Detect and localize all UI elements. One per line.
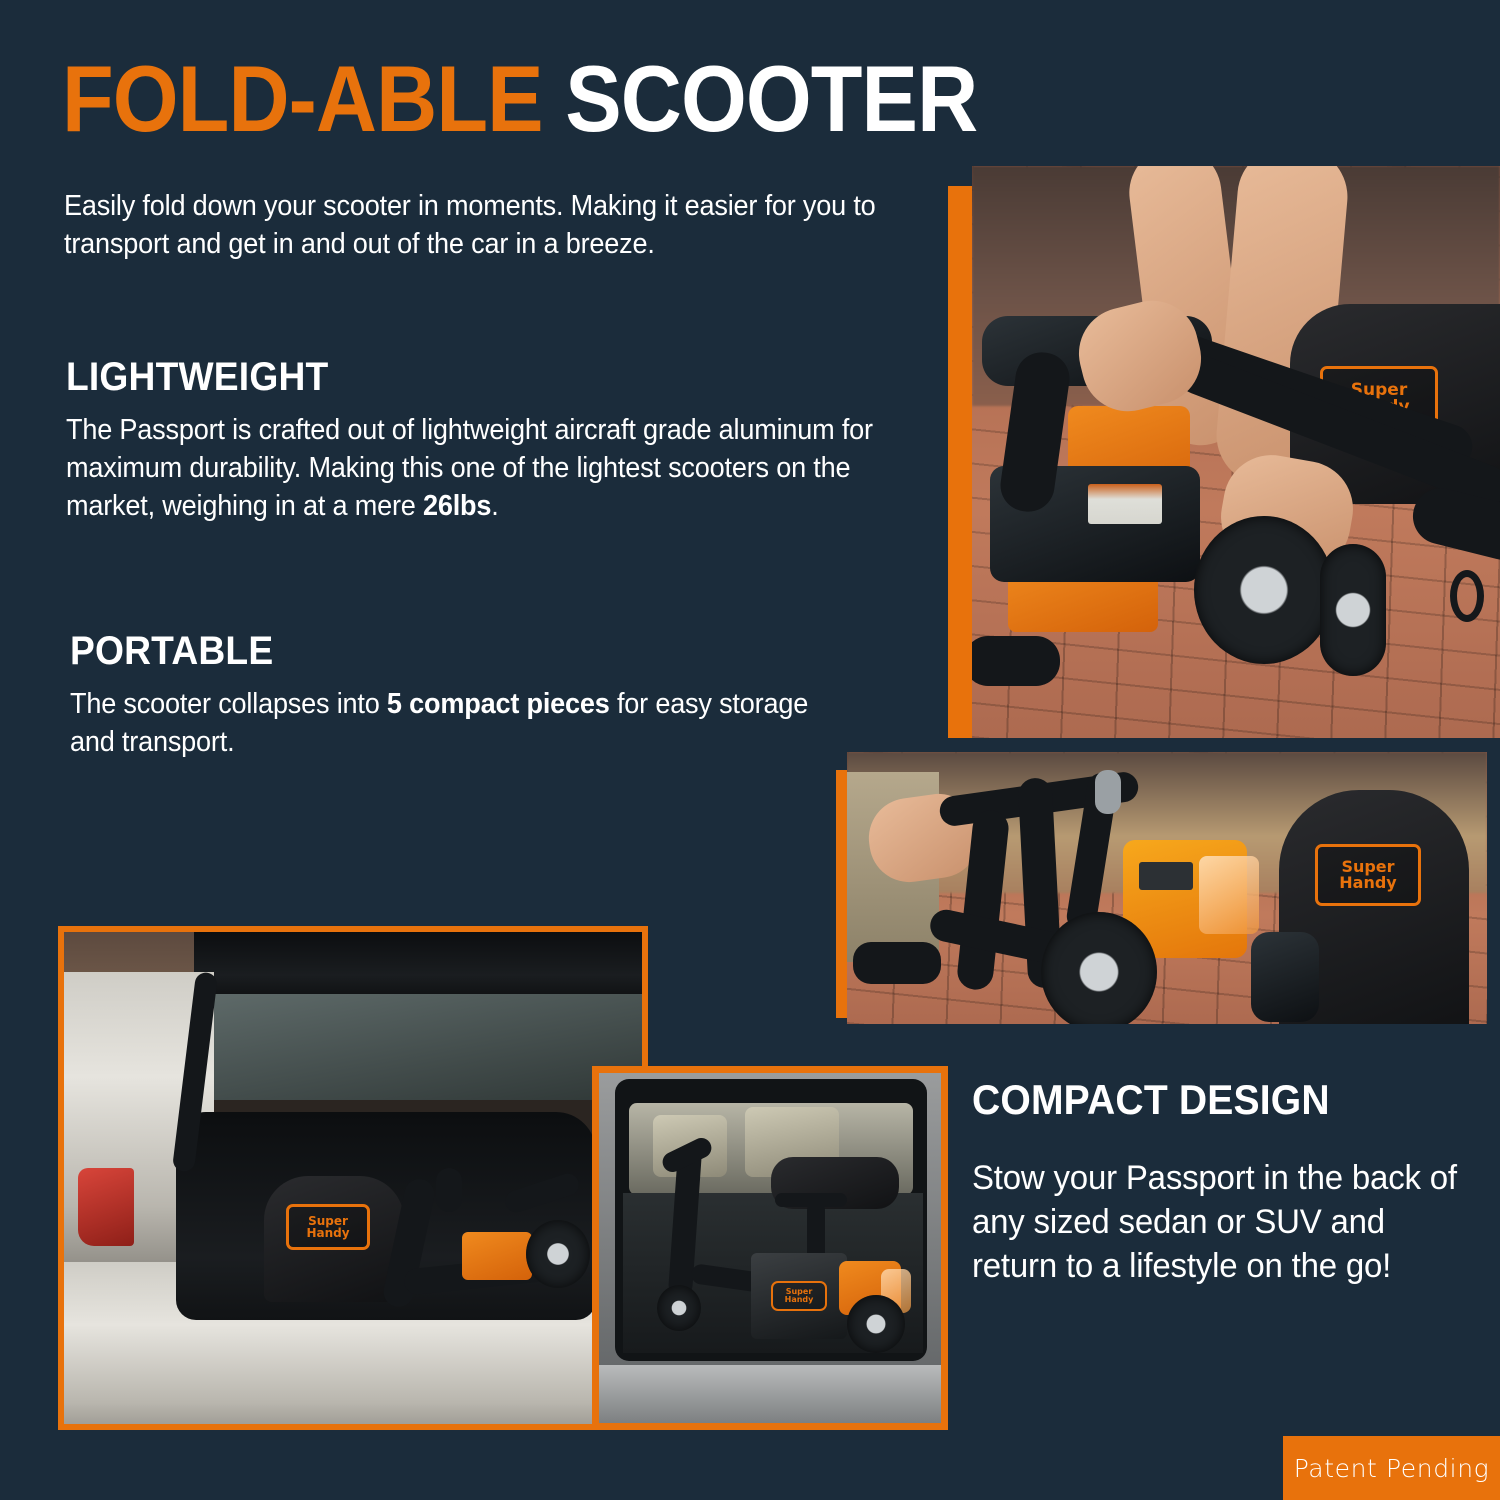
photo-suv-cargo: Super Handy: [592, 1066, 948, 1430]
section-compact-design: COMPACT DESIGN Stow your Passport in the…: [972, 1078, 1472, 1289]
photo-folded-scooter-detail: Super Handy: [847, 752, 1487, 1024]
photo-folding-scooter: Super Handy: [972, 166, 1500, 738]
section-portable-title: PORTABLE: [70, 630, 833, 672]
super-handy-logo-badge-sedan: Super Handy: [286, 1204, 370, 1250]
section-lightweight-body: The Passport is crafted out of lightweig…: [66, 412, 902, 526]
subheadline: Easily fold down your scooter in moments…: [64, 188, 900, 263]
headline-part-2: SCOOTER: [543, 46, 978, 151]
lw-text-post: .: [491, 490, 498, 522]
section-portable-body: The scooter collapses into 5 compact pie…: [70, 686, 849, 762]
brand-line-2: Handy: [776, 1296, 822, 1304]
headline-part-1: FOLD-ABLE: [62, 46, 543, 151]
section-lightweight-title: LIGHTWEIGHT: [66, 356, 884, 398]
cd-text: Stow your Passport in the back of any si…: [972, 1159, 1457, 1285]
patent-pending-badge: Patent Pending: [1283, 1436, 1500, 1500]
super-handy-logo-badge-suv: Super Handy: [771, 1281, 827, 1311]
section-lightweight: LIGHTWEIGHT The Passport is crafted out …: [66, 356, 946, 526]
pt-text-pre: The scooter collapses into: [70, 688, 387, 720]
brand-line-2: Handy: [294, 1227, 362, 1239]
brand-line-2: Handy: [1326, 875, 1410, 891]
pt-text-bold: 5 compact pieces: [387, 688, 610, 720]
section-compact-title: COMPACT DESIGN: [972, 1078, 1437, 1122]
super-handy-logo-badge-mid: Super Handy: [1315, 844, 1421, 906]
hero-accent-bar: [948, 186, 973, 738]
photo-sedan-trunk: Super Handy: [58, 926, 648, 1430]
section-portable: PORTABLE The scooter collapses into 5 co…: [70, 630, 890, 762]
section-compact-body: Stow your Passport in the back of any si…: [972, 1156, 1457, 1289]
lw-text-bold: 26lbs: [423, 490, 491, 522]
page-title: FOLD-ABLE SCOOTER: [62, 52, 977, 146]
infographic-canvas: FOLD-ABLE SCOOTER Easily fold down your …: [0, 0, 1500, 1500]
